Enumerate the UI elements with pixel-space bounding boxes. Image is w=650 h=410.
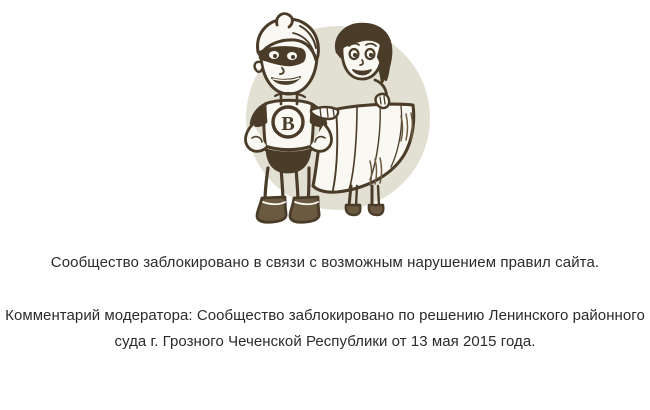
illustration-container: B	[0, 0, 650, 240]
block-notice-messages: Сообщество заблокировано в связи с возмо…	[0, 252, 650, 355]
woman-pupil-right	[369, 53, 373, 57]
woman-pupil-left	[353, 53, 357, 57]
superhero-pair-icon: B	[205, 0, 445, 236]
boy-boot-right	[290, 197, 319, 222]
woman-hand	[376, 94, 390, 108]
boy-pupil-left	[273, 54, 277, 58]
woman-leg-right-inner	[378, 186, 379, 206]
woman-leg-left	[349, 186, 351, 206]
chest-emblem-letter: B	[281, 113, 294, 135]
message-spacer	[0, 273, 650, 303]
blocked-community-page: B	[0, 0, 650, 410]
boy-hair-cowlick	[277, 14, 293, 27]
woman-shoe-left	[346, 205, 361, 215]
woman-shoe-right	[369, 205, 384, 215]
boy-pupil-right	[291, 55, 295, 59]
boy-boot-left	[257, 197, 286, 222]
woman-leg-left-inner	[356, 186, 357, 206]
moderator-comment-text: Комментарий модератора: Сообщество забло…	[0, 303, 650, 355]
block-reason-text: Сообщество заблокировано в связи с возмо…	[0, 252, 650, 273]
